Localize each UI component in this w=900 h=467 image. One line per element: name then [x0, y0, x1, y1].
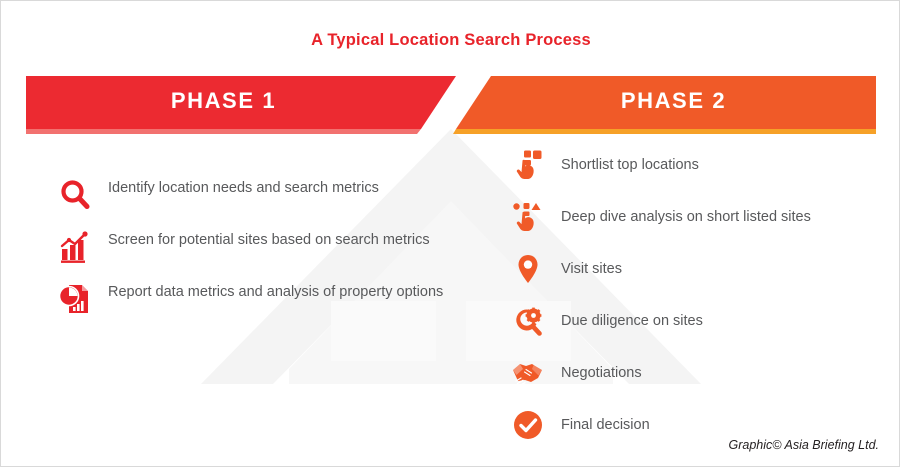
bar-chart-trend-icon [56, 228, 94, 266]
list-item-label: Final decision [561, 415, 650, 435]
hand-analysis-icon [509, 198, 547, 236]
magnifier-gear-icon [509, 302, 547, 340]
phase-2-item-list: Shortlist top locations Deep dive analys… [509, 146, 899, 458]
phase-2-strip [453, 129, 876, 134]
list-item[interactable]: Screen for potential sites based on sear… [56, 228, 456, 266]
list-item[interactable]: Due diligence on sites [509, 302, 899, 340]
list-item[interactable]: Identify location needs and search metri… [56, 176, 456, 214]
phase-1-item-list: Identify location needs and search metri… [56, 176, 456, 332]
list-item-label: Identify location needs and search metri… [108, 176, 379, 198]
credit-text: Graphic© Asia Briefing Ltd. [729, 438, 879, 452]
list-item-label: Shortlist top locations [561, 155, 699, 175]
list-item-label: Negotiations [561, 363, 642, 383]
list-item[interactable]: Deep dive analysis on short listed sites [509, 198, 899, 236]
list-item-label: Report data metrics and analysis of prop… [108, 280, 443, 302]
list-item[interactable]: Negotiations [509, 354, 899, 392]
list-item-label: Deep dive analysis on short listed sites [561, 207, 811, 227]
magnifier-icon [56, 176, 94, 214]
infographic-canvas: A Typical Location Search Process PHASE … [0, 0, 900, 467]
phase-1-strip [26, 129, 421, 134]
hand-select-icon [509, 146, 547, 184]
list-item[interactable]: Shortlist top locations [509, 146, 899, 184]
phase-1-label: PHASE 1 [26, 88, 421, 114]
list-item[interactable]: Report data metrics and analysis of prop… [56, 280, 456, 318]
map-pin-icon [509, 250, 547, 288]
list-item-label: Screen for potential sites based on sear… [108, 228, 430, 250]
list-item-label: Visit sites [561, 259, 622, 279]
phase-2-label: PHASE 2 [471, 88, 876, 114]
list-item-label: Due diligence on sites [561, 311, 703, 331]
handshake-icon [509, 354, 547, 392]
page-title: A Typical Location Search Process [1, 31, 900, 50]
report-document-icon [56, 280, 94, 318]
list-item[interactable]: Visit sites [509, 250, 899, 288]
check-circle-icon [509, 406, 547, 444]
